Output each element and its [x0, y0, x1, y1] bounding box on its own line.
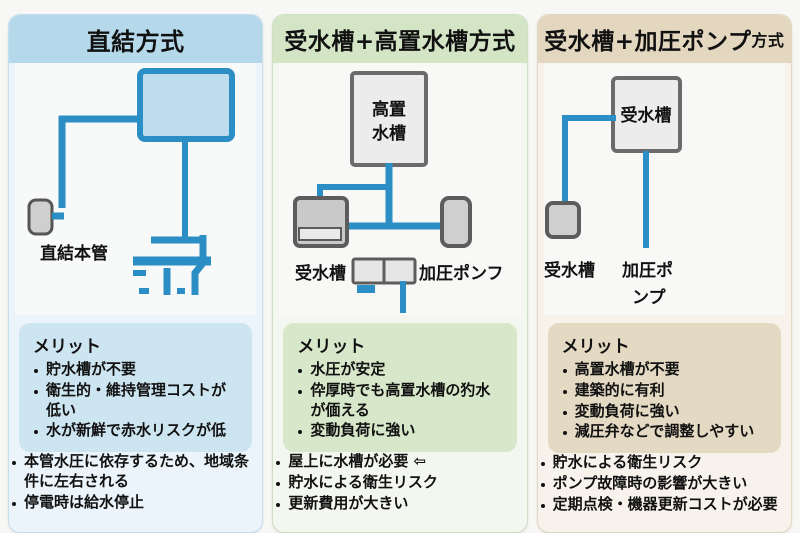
merit-item: 減圧弁などで調整しやすい	[560, 422, 769, 442]
demerit-item: 貯水による衛生リスク	[538, 453, 791, 473]
elevated-tank-label-line1: 高置	[372, 99, 406, 120]
column-3-header: 受水槽+加圧ポンプ方式	[538, 15, 791, 63]
demerit-list-1: 本管水圧に依存するため、地域条件に左右される 停電時は給水停止	[9, 452, 262, 513]
diagram-booster-pump: 受水槽 受水槽 加圧ポ ンプ	[544, 63, 785, 315]
merit-item: 伜厚時でも高置水槽の犳水が偭える	[295, 381, 504, 421]
column-2-title: 受水槽+高置水槽方式	[284, 22, 515, 56]
demerit-item: ポンプ故障時の影響が大きい	[538, 474, 791, 494]
column-2-header: 受水槽+高置水槽方式	[273, 15, 526, 63]
booster-pump-label: 加圧ポンフ	[418, 263, 504, 284]
booster-pump-shape	[442, 198, 470, 246]
merit-item: 水が新鮮で赤水リスクが低	[31, 421, 240, 441]
merit-item: 変動負荷に強い	[560, 402, 769, 422]
demerit-item: 本管水圧に依存するため、地域条件に左右される	[9, 452, 262, 492]
merit-item: 貯水槽が不要	[31, 360, 240, 380]
booster-pump-label-1: 加圧ポ	[621, 260, 673, 281]
receiving-tank-detail	[299, 228, 341, 240]
receiving-tank-label: 受水槽	[544, 260, 595, 281]
column-receiving-and-booster-pump: 受水槽+加圧ポンプ方式 受水槽 受水槽 加圧ポ ンプ メリット 高置水槽が不要 …	[537, 14, 792, 533]
water-meter-shape	[547, 203, 579, 237]
pump-outlet-shape	[357, 285, 375, 293]
merit-item: 変動負荷に強い	[295, 421, 504, 441]
diagram-elevated-tank: 高置 水槽 受水槽 加圧ポンフ	[279, 63, 520, 315]
merit-list-2: 水圧が安定 伜厚時でも高置水槽の犳水が偭える 変動負荷に強い	[295, 360, 504, 441]
water-meter-shape	[29, 200, 52, 234]
demerit-item: 貯水による衛生リスク	[273, 473, 526, 493]
merit-list-1: 貯水槽が不要 衛生的・維持管理コストが低い 水が新鮮で赤水リスクが低	[31, 360, 240, 441]
column-1-title: 直結方式	[87, 22, 185, 57]
merit-box-3: メリット 高置水槽が不要 建築的に有利 変動負荷に強い 減圧弁などで調整しやすい	[548, 323, 781, 453]
demerit-list-3: 貯水による衛生リスク ポンプ故障時の影響が大きい 定期点検・機器更新コストが必要	[538, 453, 791, 515]
demerit-item: 更新費用が大きい	[273, 494, 526, 514]
booster-pump-label-2: ンプ	[632, 287, 666, 308]
column-receiving-and-elevated-tank: 受水槽+高置水槽方式 高置 水槽 受水槽 加圧ポンフ	[272, 14, 527, 533]
merit-box-2: メリット 水圧が安定 伜厚時でも高置水槽の犳水が偭える 変動負荷に強い	[283, 323, 516, 452]
demerit-item: 定期点検・機器更新コストが必要	[538, 495, 791, 515]
merit-list-3: 高置水槽が不要 建築的に有利 変動負荷に強い 減圧弁などで調整しやすい	[560, 360, 769, 442]
comparison-board: 直結方式	[0, 0, 800, 533]
column-1-header: 直結方式	[9, 15, 262, 63]
merit-item: 高置水槽が不要	[560, 360, 769, 380]
receiving-tank-label: 受水槽	[295, 263, 346, 284]
column-3-title-suffix: 方式	[751, 27, 784, 51]
diagram-svg-3: 受水槽 受水槽 加圧ポ ンプ	[544, 63, 785, 315]
column-3-title: 受水槽+加圧ポンプ	[544, 22, 751, 56]
merit-title-2: メリット	[297, 332, 504, 357]
column-direct-supply: 直結方式	[8, 14, 263, 533]
merit-item: 建築的に有利	[560, 381, 769, 401]
merit-box-1: メリット 貯水槽が不要 衛生的・維持管理コストが低い 水が新鮮で赤水リスクが低	[19, 323, 252, 452]
building-tank-shape	[140, 71, 232, 139]
demerit-item: 屋上に水槽が必要 ⇦	[273, 452, 526, 472]
demerit-item: 停電時は給水停止	[9, 493, 262, 513]
diagram-direct-supply: 直結本管	[15, 63, 256, 315]
diagram-svg-2: 高置 水槽 受水槽 加圧ポンフ	[279, 63, 520, 315]
elevated-tank-label-line2: 水槽	[372, 123, 406, 144]
demerit-list-2: 屋上に水槽が必要 ⇦ 貯水による衛生リスク 更新費用が大きい	[273, 452, 526, 514]
merit-title-1: メリット	[33, 332, 240, 357]
diagram-svg-1: 直結本管	[15, 63, 256, 315]
direct-main-label: 直結本管	[40, 243, 108, 264]
merit-title-3: メリット	[562, 332, 769, 357]
receiving-tank-big-label: 受水槽	[620, 105, 671, 126]
merit-item: 水圧が安定	[295, 360, 504, 380]
merit-item: 衛生的・維持管理コストが低い	[31, 381, 240, 421]
